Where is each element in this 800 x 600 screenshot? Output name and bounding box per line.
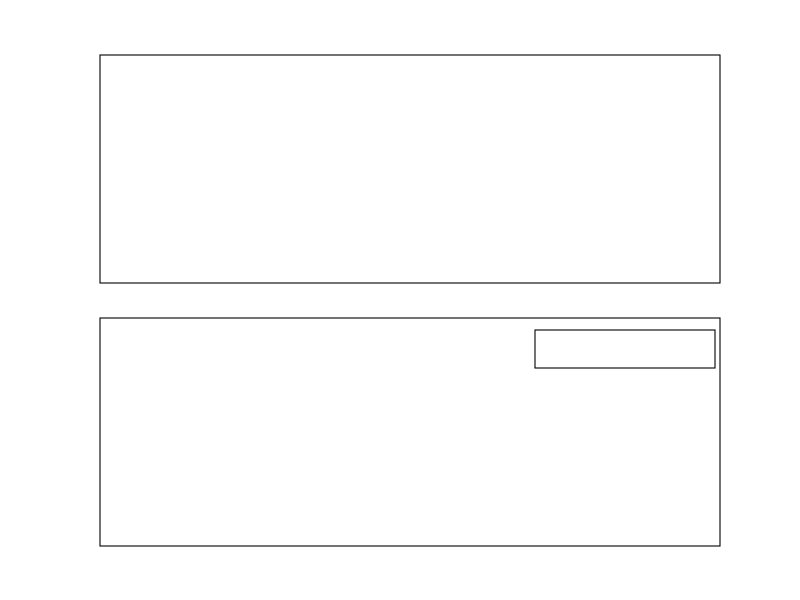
legend-box: [535, 330, 715, 368]
top-plot-background: [100, 55, 720, 283]
top-axes: [100, 55, 720, 283]
figure-canvas: [0, 0, 800, 600]
legend[interactable]: [535, 330, 715, 368]
matplotlib-figure: [0, 0, 800, 600]
